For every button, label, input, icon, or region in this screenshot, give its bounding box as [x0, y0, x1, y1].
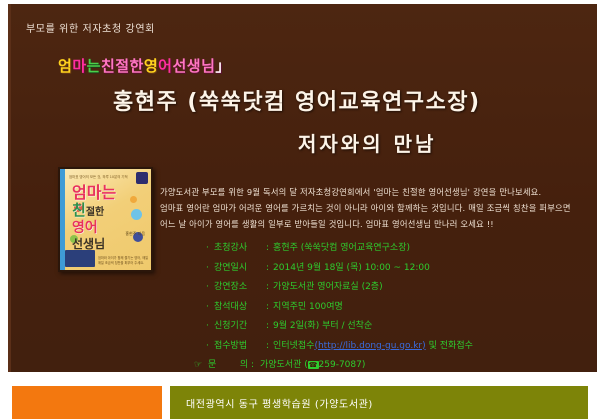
detail-value-audience: 지역주민 100여명 — [273, 303, 343, 312]
book-title-line-3-text: 영어 — [72, 220, 98, 236]
book-bottom-note: 엄마와 아이가 함께 즐기는 영어, 매일매일 조금씩 칭찬을 퍼부어 주세요. — [98, 256, 150, 265]
book-bottom-band — [65, 250, 95, 267]
colored-subtitle-part-5: 어 — [158, 59, 172, 74]
book-author: 홍현주 지음 — [125, 231, 145, 237]
book-cover-image: 엄마표 영어의 모든 것, 하루 10분의 기적 엄마는 친절한 영어 — [58, 167, 153, 272]
bullet-icon: · — [206, 303, 214, 312]
inquiry-phone-number: 259-7087) — [319, 361, 366, 370]
poster-footer: 대전광역시 동구 평생학습원 (가양도서관) — [0, 376, 600, 419]
bullet-icon: · — [206, 342, 214, 351]
detail-separator: : — [262, 322, 273, 331]
detail-label-datetime: 강연일시 — [214, 264, 262, 273]
detail-row-speaker: · 초청강사 : 홍현주 (쑥쑥닷컴 영어교육연구소장) — [206, 244, 473, 253]
book-title-line-2-text: 절한 — [86, 207, 104, 218]
inquiry-value: 가양도서관 ( — [254, 361, 308, 370]
detail-separator: : — [262, 244, 273, 253]
poster-paragraph: 가양도서관 부모를 위한 9월 독서의 달 저자초청강연회에서 '엄마는 친절한… — [160, 184, 592, 233]
detail-row-datetime: · 강연일시 : 2014년 9월 18일 (목) 10:00 ~ 12:00 — [206, 264, 473, 273]
colored-subtitle-part-7: 」 — [215, 59, 231, 74]
footer-olive-bar: 대전광역시 동구 평생학습원 (가양도서관) — [170, 386, 588, 419]
detail-value-venue: 가양도서관 영어자료실 (2층) — [273, 283, 383, 292]
colored-subtitle-part-0: 엄 — [58, 59, 72, 74]
book-cover-inner: 엄마표 영어의 모든 것, 하루 10분의 기적 엄마는 친절한 영어 — [60, 169, 151, 270]
detail-value-speaker: 홍현주 (쑥쑥닷컴 영어교육연구소장) — [273, 244, 410, 253]
poster-kicker: 부모를 위한 저자초청 강연회 — [26, 20, 155, 35]
colored-subtitle-part-2: 는 — [87, 59, 101, 74]
detail-value-application-method-suffix: 및 전화접수 — [426, 342, 473, 351]
panel-left-edge — [8, 4, 11, 372]
inquiry-row: ☞ 문 의 : 가양도서관 (☎259-7087) — [194, 361, 473, 370]
detail-row-venue: · 강연장소 : 가양도서관 영어자료실 (2층) — [206, 283, 473, 292]
book-title-line-2-accent: 친 — [72, 201, 86, 219]
detail-label-audience: 참석대상 — [214, 303, 262, 312]
detail-row-application-period: · 신청기간 : 9월 2일(화) 부터 / 선착순 — [206, 322, 473, 331]
inquiry-label-b: 의 : — [224, 361, 254, 370]
colored-subtitle-part-3: 친절한 — [101, 59, 144, 74]
detail-value-datetime: 2014년 9월 18일 (목) 10:00 ~ 12:00 — [273, 264, 430, 273]
colored-subtitle-part-1: 마 — [72, 59, 86, 74]
detail-separator: : — [262, 342, 273, 351]
book-deco-circle-2 — [131, 209, 142, 220]
bullet-icon: · — [206, 322, 214, 331]
event-details-list: · 초청강사 : 홍현주 (쑥쑥닷컴 영어교육연구소장) · 강연일시 : 20… — [206, 244, 473, 370]
pointing-hand-icon: ☞ — [194, 361, 208, 370]
book-title-line-1-text: 엄마는 — [72, 183, 116, 202]
bullet-icon: · — [206, 264, 214, 273]
event-poster: 부모를 위한 저자초청 강연회 엄마는 친절한 영어선생님」 홍현주 (쑥쑥닷컴… — [0, 0, 600, 419]
poster-main-panel: 부모를 위한 저자초청 강연회 엄마는 친절한 영어선생님」 홍현주 (쑥쑥닷컴… — [8, 4, 597, 372]
detail-label-venue: 강연장소 — [214, 283, 262, 292]
book-title-line-2: 친절한 — [72, 202, 116, 219]
detail-label-application-method: 접수방법 — [214, 342, 262, 351]
book-badge-icon — [136, 172, 148, 184]
paragraph-line-2: 엄마표 영어란 엄마가 어려운 영어를 가르치는 것이 아니라 아이와 함께하는… — [160, 200, 592, 216]
footer-orange-block — [12, 386, 162, 419]
detail-row-application-method: · 접수방법 : 인터넷접수(http://lib.dong-gu.go.kr)… — [206, 342, 473, 351]
book-title-line-1: 엄마는 — [72, 185, 116, 202]
book-deco-circle-3 — [130, 196, 137, 203]
bullet-icon: · — [206, 283, 214, 292]
detail-label-application-period: 신청기간 — [214, 322, 262, 331]
colored-subtitle: 엄마는 친절한 영어선생님」 — [58, 59, 231, 74]
application-website-link[interactable]: (http://lib.dong-gu.go.kr) — [314, 342, 425, 351]
detail-value-application-method-prefix: 인터넷접수 — [273, 342, 314, 351]
speaker-headline: 홍현주 (쑥쑥닷컴 영어교육연구소장) — [113, 84, 481, 116]
colored-subtitle-part-6: 선생님 — [172, 59, 215, 74]
bullet-icon: · — [206, 244, 214, 253]
paragraph-line-3: 어느 날 아이가 영어를 생활의 일부로 받아들일 것입니다. 엄마표 영어선생… — [160, 216, 592, 232]
event-headline: 저자와의 만남 — [298, 128, 436, 157]
detail-label-speaker: 초청강사 — [214, 244, 262, 253]
detail-row-audience: · 참석대상 : 지역주민 100여명 — [206, 303, 473, 312]
inquiry-label-a: 문 — [208, 361, 224, 370]
book-title-line-3: 영어 — [72, 219, 116, 236]
detail-separator: : — [262, 264, 273, 273]
colored-subtitle-part-4: 영 — [144, 59, 158, 74]
footer-organization-text: 대전광역시 동구 평생학습원 (가양도서관) — [186, 395, 373, 410]
detail-value-application-period: 9월 2일(화) 부터 / 선착순 — [273, 322, 372, 331]
detail-separator: : — [262, 303, 273, 312]
paragraph-line-1: 가양도서관 부모를 위한 9월 독서의 달 저자초청강연회에서 '엄마는 친절한… — [160, 184, 592, 200]
book-top-caption: 엄마표 영어의 모든 것, 하루 10분의 기적 — [69, 174, 128, 179]
telephone-icon: ☎ — [308, 361, 319, 369]
detail-separator: : — [262, 283, 273, 292]
book-title-block: 엄마는 친절한 영어 선생님 — [72, 185, 116, 252]
